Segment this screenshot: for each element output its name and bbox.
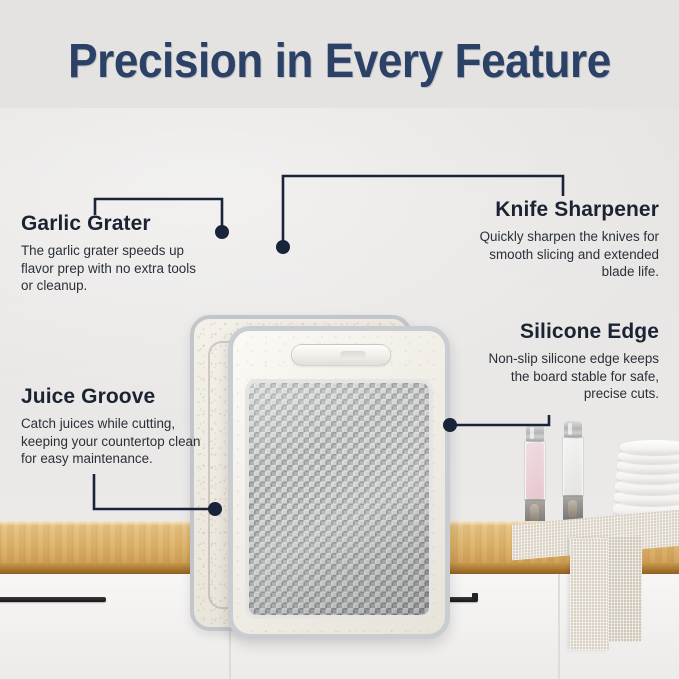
- callout-description: The garlic grater speeds up flavor prep …: [21, 242, 201, 294]
- marker-dot-juice-groove: [208, 502, 222, 516]
- callout-description: Catch juices while cutting, keeping your…: [21, 415, 211, 467]
- grinder-cap: [526, 425, 544, 442]
- grinder-contents: [564, 439, 582, 495]
- callout-silicone-edge: Silicone Edge Non-slip silicone edge kee…: [455, 320, 659, 402]
- cabinet-seam: [558, 574, 560, 679]
- callout-title: Knife Sharpener: [455, 198, 659, 221]
- kitchen-towel-drape: [570, 538, 610, 650]
- marker-dot-knife-sharpener: [276, 240, 290, 254]
- callout-title: Silicone Edge: [455, 320, 659, 343]
- marker-dot-garlic-grater: [215, 225, 229, 239]
- callout-title: Garlic Grater: [21, 212, 201, 235]
- knife-sharpener-slot: [291, 344, 391, 366]
- grinder-contents: [526, 443, 544, 499]
- drawer-handle: [0, 597, 106, 602]
- grinder-body: [562, 437, 584, 497]
- cutting-board-front: [228, 326, 450, 639]
- callout-title: Juice Groove: [21, 385, 211, 408]
- grinder-cap: [564, 421, 582, 438]
- infographic-canvas: Precision in Every Feature Garlic Grater…: [0, 0, 679, 679]
- plate: [620, 440, 679, 455]
- callout-description: Quickly sharpen the knives for smooth sl…: [455, 228, 659, 280]
- towel-texture: [570, 538, 610, 650]
- grinder-body: [524, 441, 546, 501]
- towel-texture: [608, 536, 642, 642]
- page-title: Precision in Every Feature: [27, 34, 652, 89]
- surface-sheen: [249, 383, 429, 615]
- textured-cutting-surface: [245, 379, 433, 619]
- marker-dot-silicone-edge: [443, 418, 457, 432]
- handle-mount: [472, 593, 478, 601]
- callout-knife-sharpener: Knife Sharpener Quickly sharpen the kniv…: [455, 198, 659, 280]
- callout-garlic-grater: Garlic Grater The garlic grater speeds u…: [21, 212, 201, 294]
- title-bar: Precision in Every Feature: [0, 0, 679, 108]
- callout-description: Non-slip silicone edge keeps the board s…: [455, 350, 659, 402]
- kitchen-towel-drape: [608, 536, 642, 642]
- callout-juice-groove: Juice Groove Catch juices while cutting,…: [21, 385, 211, 467]
